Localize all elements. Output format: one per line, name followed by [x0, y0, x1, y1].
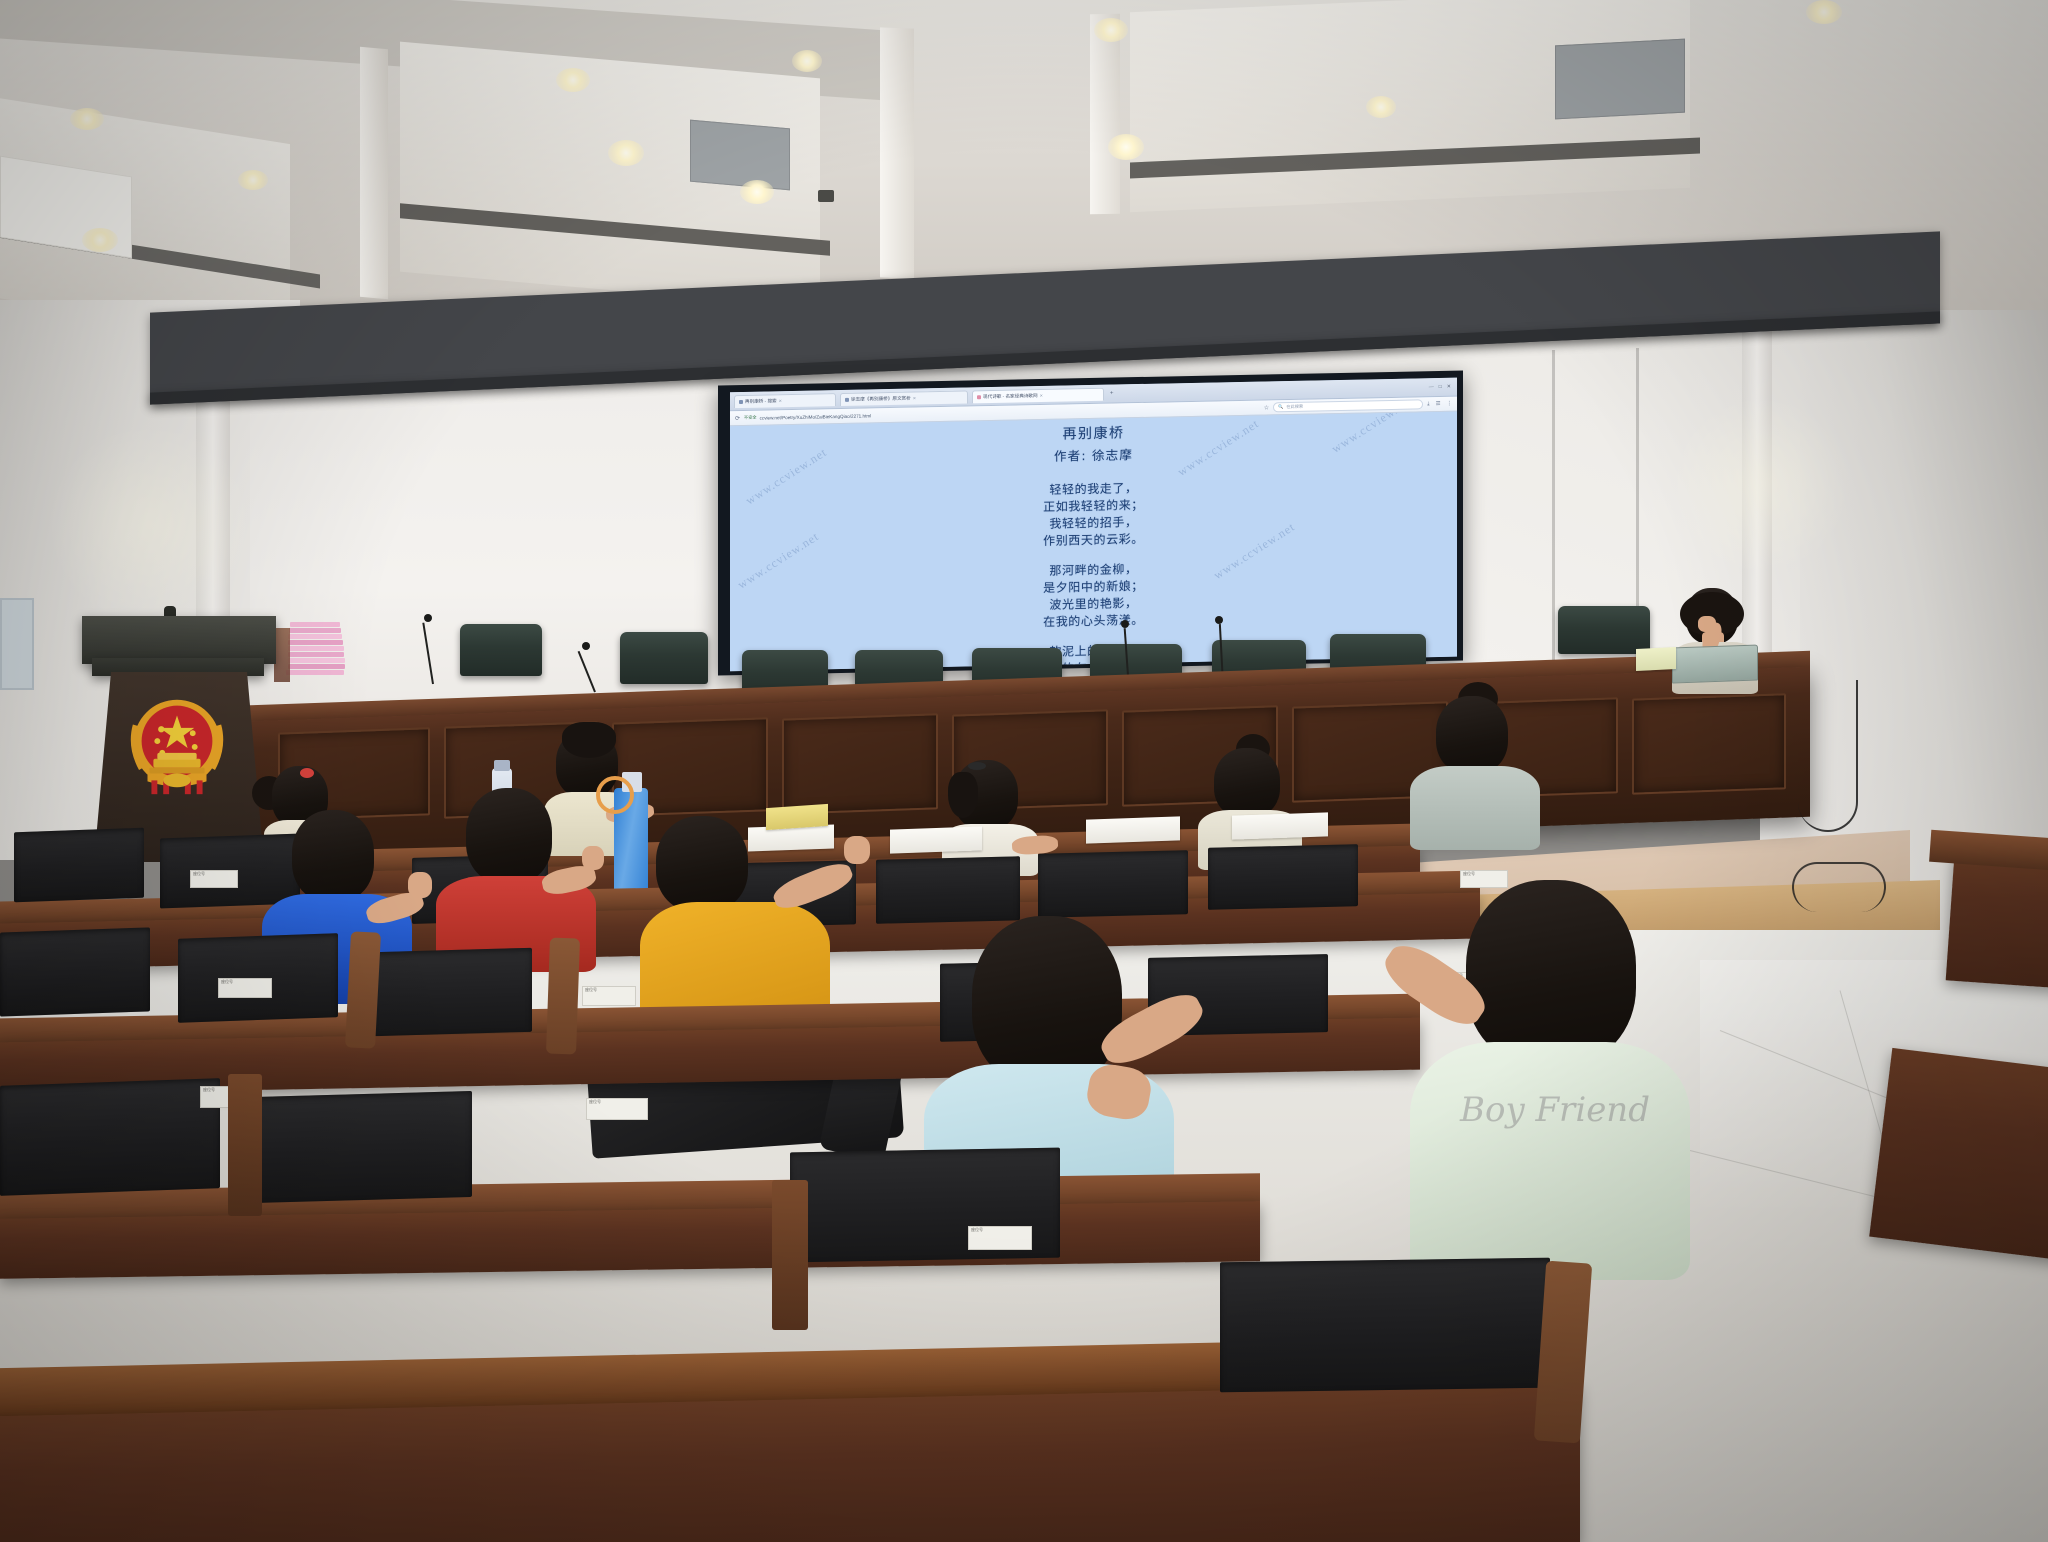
- folder: [288, 646, 344, 651]
- folder: [288, 640, 343, 645]
- microphone-head-1: [424, 614, 432, 622]
- seatback: [1038, 850, 1188, 918]
- armrest: [345, 931, 381, 1048]
- downlight-1: [70, 108, 104, 130]
- poem-stanza-1: 轻轻的我走了， 正如我轻轻的来； 我轻轻的招手， 作别西天的云彩。: [730, 473, 1457, 556]
- worksheet: [1086, 816, 1180, 843]
- security-badge: 不安全: [744, 415, 757, 421]
- folder: [286, 670, 344, 675]
- browser-tab-label: 徐志摩《再别康桥》原文赏析: [851, 395, 911, 402]
- poem-stanza-2: 那河畔的金柳， 是夕阳中的新娘； 波光里的艳影， 在我的心头荡漾。: [730, 554, 1457, 637]
- browser-tab-2[interactable]: 现代诗歌 - 名家经典诗歌网 ✕: [972, 387, 1104, 403]
- search-placeholder: 在此搜索: [1286, 404, 1303, 410]
- bench-panel: [782, 713, 938, 814]
- microphone-head-4: [1215, 616, 1223, 624]
- armrest: [546, 938, 580, 1055]
- hair-tie: [968, 762, 986, 770]
- projected-browser-window: 再别康桥 - 搜索 ✕ 徐志摩《再别康桥》原文赏析 ✕ 现代诗歌 - 名家经典诗…: [730, 378, 1457, 672]
- minimize-icon[interactable]: —: [1429, 384, 1434, 390]
- bottle-cap: [494, 760, 510, 771]
- arm: [770, 858, 857, 915]
- close-window-icon[interactable]: ✕: [1447, 384, 1451, 390]
- downlight-8: [1094, 18, 1128, 42]
- person-student-10: Boy Friend: [1390, 880, 1710, 1280]
- downlight-2: [82, 228, 118, 252]
- head: [656, 816, 748, 912]
- hand: [582, 846, 604, 870]
- projection-screen: 再别康桥 - 搜索 ✕ 徐志摩《再别康桥》原文赏析 ✕ 现代诗歌 - 名家经典诗…: [718, 371, 1463, 676]
- close-icon[interactable]: ✕: [1040, 393, 1043, 398]
- favorite-icon[interactable]: ☆: [1264, 404, 1269, 411]
- seatback: [0, 927, 150, 1016]
- downlight-7: [792, 50, 822, 72]
- photo-scene: 再别康桥 - 搜索 ✕ 徐志摩《再别康桥》原文赏析 ✕ 现代诗歌 - 名家经典诗…: [0, 0, 2048, 1542]
- power-cable-floor: [1792, 862, 1886, 912]
- seat-divider-post: [772, 1180, 808, 1330]
- worksheet: [1232, 812, 1328, 839]
- reload-icon[interactable]: ⟳: [735, 415, 740, 422]
- search-icon: 🔍: [1278, 404, 1283, 410]
- url-text: ccview.net/Poetry/XuZhiMo/ZaiBieKangQiao…: [760, 413, 872, 420]
- head: [1466, 880, 1636, 1066]
- seat-number-tag: 座位号: [968, 1226, 1032, 1250]
- head: [292, 810, 374, 902]
- person-student-3: [436, 788, 606, 968]
- browser-tab-label: 现代诗歌 - 名家经典诗歌网: [983, 393, 1038, 400]
- seat-number-tag: 座位号: [218, 978, 272, 998]
- bench-chair-2: [620, 632, 708, 684]
- hvac-vent-right: [1555, 39, 1685, 120]
- pendant-fixture: [818, 190, 834, 202]
- folder: [288, 652, 344, 657]
- seatback: [372, 948, 532, 1036]
- page-icon: [845, 397, 849, 401]
- head: [972, 916, 1122, 1086]
- search-icon: [739, 399, 743, 403]
- bench-panel: [1632, 693, 1786, 794]
- browser-tab-label: 再别康桥 - 搜索: [745, 398, 777, 405]
- power-cable: [1798, 680, 1858, 832]
- window-controls[interactable]: — □ ✕: [1429, 384, 1453, 390]
- papers-on-teacher-desk: [1636, 647, 1676, 671]
- hand: [1698, 616, 1716, 632]
- seatback: [876, 856, 1020, 924]
- side-gallery-bench: [1946, 851, 2048, 992]
- torso: [1410, 1042, 1690, 1280]
- folder: [289, 628, 341, 633]
- hand: [844, 836, 870, 864]
- downlight-9: [1108, 134, 1144, 160]
- seatback: [14, 828, 144, 903]
- head: [1214, 748, 1280, 818]
- hair-clip: [300, 768, 314, 778]
- downlight-10: [1366, 96, 1396, 118]
- ponytail: [948, 772, 978, 818]
- worksheet: [890, 826, 982, 853]
- seat-number-tag: 座位号: [586, 1098, 648, 1120]
- ceiling-rib-1: [360, 47, 388, 299]
- folder-stack: [288, 622, 346, 684]
- folder: [288, 658, 345, 663]
- seatback: [252, 1091, 472, 1203]
- seat-divider-post: [228, 1074, 262, 1216]
- folder-stack-side: [274, 628, 290, 682]
- laptop[interactable]: [1672, 644, 1758, 683]
- teacher-chair: [1558, 606, 1650, 654]
- webpage-content: www.ccview.net www.ccview.net www.ccview…: [730, 412, 1457, 672]
- bench-chair-1: [460, 624, 542, 676]
- close-icon[interactable]: ✕: [779, 398, 782, 403]
- podium-top: [82, 616, 276, 664]
- microphone-head-2: [582, 642, 590, 650]
- extensions-icon[interactable]: ☰: [1436, 400, 1441, 407]
- head: [1436, 696, 1508, 774]
- browser-tab-0[interactable]: 再别康桥 - 搜索 ✕: [734, 393, 836, 408]
- head: [466, 788, 552, 884]
- browser-toolbar-icons[interactable]: ⤓ ☰ ⋮: [1427, 400, 1452, 407]
- folder: [290, 622, 340, 627]
- ponytail: [562, 722, 616, 758]
- browser-search-box[interactable]: 🔍 在此搜索: [1273, 399, 1423, 412]
- ceiling-rib-2: [880, 27, 914, 278]
- downlight-11: [1806, 0, 1842, 24]
- site-icon: [977, 395, 981, 399]
- downloads-icon[interactable]: ⤓: [1427, 401, 1429, 408]
- microphone-head-3: [1121, 620, 1129, 628]
- person-student-8: [1400, 690, 1550, 850]
- downlight-3: [238, 170, 268, 190]
- seat-number-tag: 座位号: [190, 870, 238, 888]
- downlight-6: [740, 180, 774, 204]
- folder: [288, 634, 342, 639]
- torso: [1410, 766, 1540, 850]
- seatback: [1208, 844, 1358, 910]
- seat-number-tag: 座位号: [582, 986, 636, 1006]
- seatback: [0, 1078, 220, 1196]
- folder: [288, 664, 345, 669]
- window-frame-left: [0, 598, 34, 690]
- side-gallery-bench-2: [1869, 1048, 2048, 1262]
- downlight-5: [608, 140, 644, 166]
- china-national-emblem: [118, 686, 236, 804]
- menu-icon[interactable]: ⋮: [1447, 400, 1453, 407]
- browser-tab-1[interactable]: 徐志摩《再别康桥》原文赏析 ✕: [840, 390, 968, 406]
- seatback: [1220, 1258, 1550, 1393]
- hand: [408, 872, 432, 898]
- new-tab-button[interactable]: +: [1108, 390, 1116, 396]
- downlight-4: [556, 68, 590, 92]
- hvac-vent-center: [690, 120, 790, 191]
- maximize-icon[interactable]: □: [1439, 384, 1442, 390]
- ceiling-rib-3: [1090, 14, 1120, 215]
- close-icon[interactable]: ✕: [913, 396, 916, 401]
